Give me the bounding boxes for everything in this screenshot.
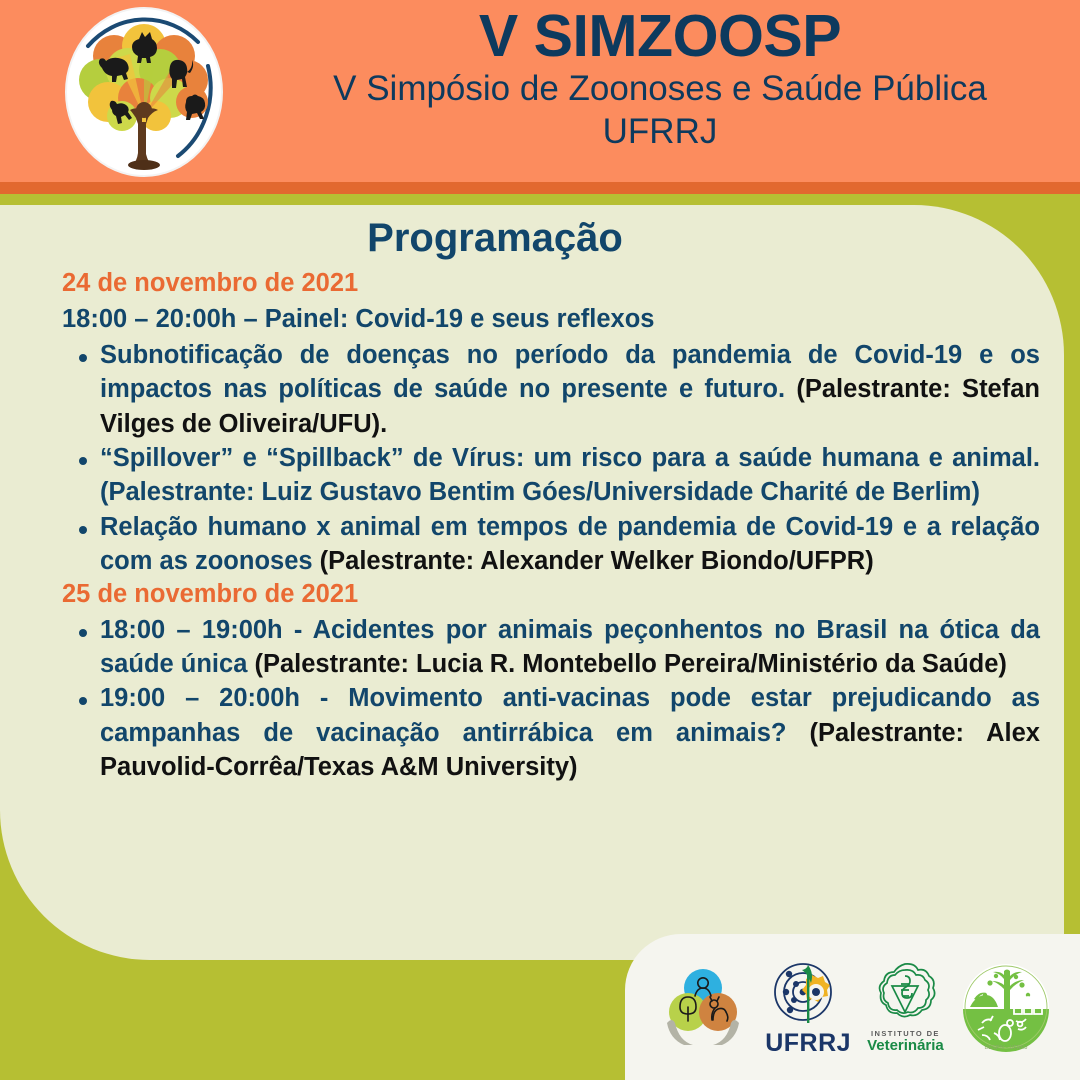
schedule-day: 25 de novembro de 2021 18:00 – 19:00h - … <box>62 578 1040 784</box>
day-item-list: 18:00 – 19:00h - Acidentes por animais p… <box>62 613 1040 784</box>
footer-logo-panel: UFRRJ INSTITUTO DE Veterinária <box>625 934 1080 1080</box>
footer-logo-row: UFRRJ INSTITUTO DE Veterinária <box>625 934 1080 1080</box>
talk-topic: “Spillover” e “Spillback” de Vírus: um r… <box>100 444 1040 506</box>
day-date: 24 de novembro de 2021 <box>62 267 1040 301</box>
instituto-veterinaria-logo: INSTITUTO DE Veterinária <box>867 960 944 1055</box>
day-session-title: 18:00 – 20:00h – Painel: Covid-19 e seus… <box>62 302 1040 336</box>
ufrrj-logo-caption: UFRRJ <box>765 1031 851 1056</box>
conference-organization: UFRRJ <box>250 111 1070 154</box>
list-item: 18:00 – 19:00h - Acidentes por animais p… <box>62 613 1040 682</box>
despiv-ufrrj-logo: DESPIV - UFRRJ <box>960 961 1052 1053</box>
one-health-logo <box>657 961 749 1053</box>
page-title: Programação <box>0 205 1080 267</box>
day-item-list: Subnotificação de doenças no período da … <box>62 338 1040 578</box>
conference-title: V SIMZOOSP <box>250 6 1070 66</box>
schedule-day: 24 de novembro de 2021 18:00 – 20:00h – … <box>62 267 1040 578</box>
list-item: “Spillover” e “Spillback” de Vírus: um r… <box>62 441 1040 510</box>
header-accent-stripe <box>0 182 1080 194</box>
list-item: Subnotificação de doenças no período da … <box>62 338 1040 441</box>
ufrrj-logo: UFRRJ <box>765 959 851 1056</box>
simzoosp-tree-logo <box>58 6 230 178</box>
program-content: Programação 24 de novembro de 2021 18:00… <box>0 205 1080 965</box>
talk-speaker: (Palestrante: Alexander Welker Biondo/UF… <box>320 547 874 575</box>
poster-canvas: V SIMZOOSP V Simpósio de Zoonoses e Saúd… <box>0 0 1080 1080</box>
list-item: Relação humano x animal em tempos de pan… <box>62 510 1040 579</box>
instituto-veterinaria-caption-small: INSTITUTO DE <box>871 1030 940 1038</box>
header-text-block: V SIMZOOSP V Simpósio de Zoonoses e Saúd… <box>250 6 1070 154</box>
day-date: 25 de novembro de 2021 <box>62 578 1040 612</box>
conference-subtitle: V Simpósio de Zoonoses e Saúde Pública <box>250 68 1070 111</box>
schedule: 24 de novembro de 2021 18:00 – 20:00h – … <box>0 267 1080 784</box>
talk-speaker: (Palestrante: Lucia R. Montebello Pereir… <box>254 650 1006 678</box>
list-item: 19:00 – 20:00h - Movimento anti-vacinas … <box>62 681 1040 784</box>
svg-text:DESPIV - UFRRJ: DESPIV - UFRRJ <box>984 1045 1027 1051</box>
instituto-veterinaria-caption-main: Veterinária <box>867 1038 944 1055</box>
